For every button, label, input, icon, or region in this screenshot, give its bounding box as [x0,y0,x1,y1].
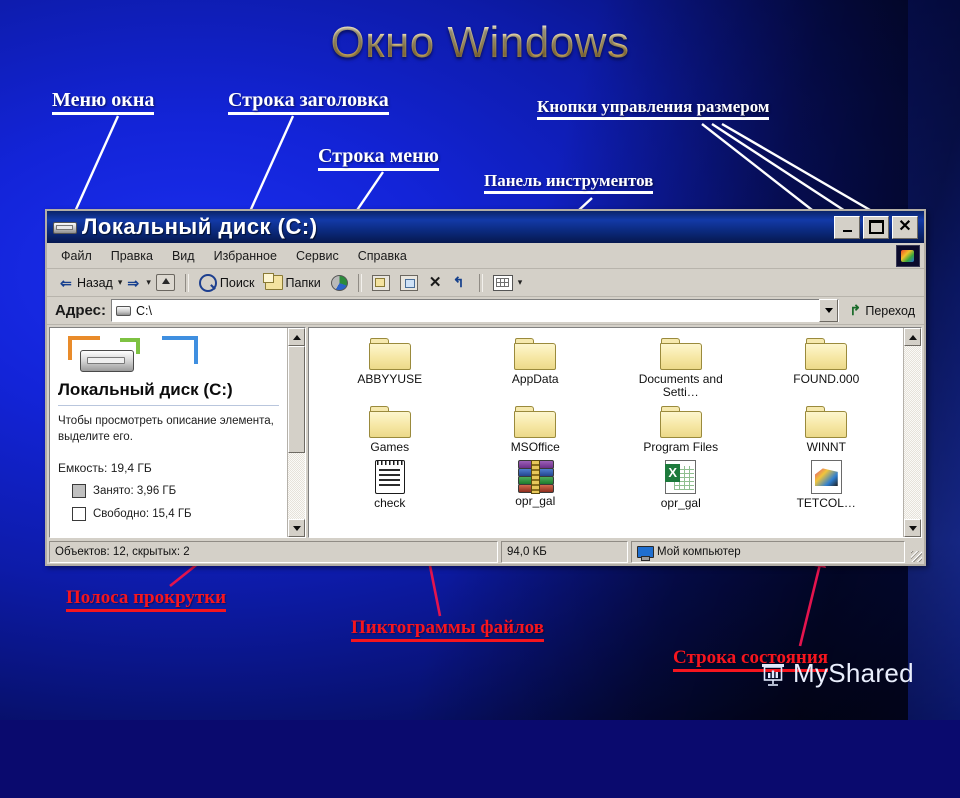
history-icon [331,275,348,291]
files-grid: ABBYYUSE AppData Documents and Setti… FO… [317,334,899,511]
file-label: AppData [512,373,559,386]
search-icon [199,274,217,292]
address-value: C:\ [136,304,152,318]
free-swatch-icon [72,507,86,521]
callout-window-menu: Меню окна [52,90,154,115]
file-label: MSOffice [511,441,560,454]
details-pane-scrollbar[interactable] [287,328,305,537]
explorer-window: Локальный диск (C:) ✕ Файл Правка Вид Из… [45,209,926,566]
legend-row-free: Свободно: 15,4 ГБ [72,507,279,521]
folder-up-icon [156,274,175,291]
excel-spreadsheet-icon: X [665,460,696,494]
notepad-document-icon [375,460,405,494]
callout-toolbar: Панель инструментов [484,172,653,194]
undo-icon: ↰ [453,276,469,290]
details-pane-divider [58,405,279,406]
menu-item-file[interactable]: Файл [61,249,92,263]
file-label: FOUND.000 [793,373,859,386]
file-label: Documents and Setti… [625,373,737,400]
used-label: Занято: 3,96 ГБ [93,485,176,497]
folder-icon [660,406,702,438]
windows-logo-icon [896,245,920,267]
capacity-label: Емкость: 19,4 ГБ [58,461,279,475]
files-list[interactable]: ABBYYUSE AppData Documents and Setti… FO… [309,328,903,537]
minimize-button[interactable] [834,216,860,239]
scroll-down-button[interactable] [288,519,305,537]
file-item-msoffice[interactable]: MSOffice [463,402,609,454]
status-objects: Объектов: 12, скрытых: 2 [49,541,498,563]
scrollbar-track[interactable] [904,346,921,519]
image-file-icon [811,460,842,494]
file-item-program-files[interactable]: Program Files [608,402,754,454]
file-label: Program Files [643,441,718,454]
file-label: check [374,497,405,510]
maximize-icon [869,220,884,234]
copy-to-icon [400,275,418,291]
go-button[interactable]: ↱ Переход [844,304,920,318]
resize-grip[interactable] [908,541,922,563]
drive-icon [53,219,75,235]
menu-bar: Файл Правка Вид Избранное Сервис Справка [47,243,924,269]
go-arrow-icon: ↱ [849,304,862,317]
folder-icon [660,338,702,370]
scrollbar-thumb[interactable] [288,346,305,453]
free-label: Свободно: 15,4 ГБ [93,508,192,520]
address-label: Адрес: [55,302,106,319]
file-item-found-000[interactable]: FOUND.000 [754,334,900,400]
file-item-games[interactable]: Games [317,402,463,454]
scrollbar-track[interactable] [288,453,305,519]
up-button[interactable] [151,272,180,294]
chevron-down-icon [293,526,301,531]
window-controls: ✕ [834,216,924,239]
copy-to-button[interactable] [395,272,423,294]
maximize-button[interactable] [863,216,889,239]
file-item-opr-gal-spreadsheet[interactable]: X opr_gal [608,456,754,510]
local-disk-banner-icon [58,334,279,378]
details-pane-title: Локальный диск (C:) [58,380,279,399]
views-dropdown-icon[interactable]: ▾ [518,277,523,288]
scroll-up-button[interactable] [288,328,305,346]
drive-icon [116,306,131,316]
details-pane-content: Локальный диск (C:) Чтобы просмотреть оп… [50,328,287,537]
arrow-left-icon: ⇐ [60,276,74,290]
folder-icon [514,338,556,370]
my-computer-icon [637,546,652,559]
menu-item-view[interactable]: Вид [172,249,195,263]
window-body: Локальный диск (C:) Чтобы просмотреть оп… [47,325,924,540]
status-zone-label: Мой компьютер [657,546,741,558]
legend-row-used: Занято: 3,96 ГБ [72,484,279,498]
menu-item-favorites[interactable]: Избранное [214,249,277,263]
chevron-up-icon [293,335,301,340]
toolbar-separator-3 [479,274,483,292]
myshared-chart-icon [760,661,786,687]
winrar-archive-icon [518,460,552,492]
search-button-label: Поиск [220,276,255,290]
menu-item-edit[interactable]: Правка [111,249,153,263]
file-label: Games [370,441,409,454]
folder-icon [369,338,411,370]
folders-button[interactable]: Папки [260,272,326,294]
watermark-text: MyShared [793,658,914,689]
watermark: MyShared [760,658,914,689]
chevron-up-icon [909,335,917,340]
address-dropdown-button[interactable] [819,299,838,322]
status-size: 94,0 КБ [501,541,628,563]
search-button[interactable]: Поиск [194,272,260,294]
callout-file-icons: Пиктограммы файлов [351,618,544,642]
menu-item-tools[interactable]: Сервис [296,249,339,263]
folder-icon [805,338,847,370]
files-pane: ABBYYUSE AppData Documents and Setti… FO… [308,327,922,538]
close-icon: ✕ [898,219,911,235]
used-swatch-icon [72,484,86,498]
scroll-down-button[interactable] [904,519,921,537]
toolbar: ⇐ Назад ▾ ⇒ ▾ Поиск Папки ✕ [47,269,924,297]
address-bar: Адрес: C:\ ↱ Переход [47,297,924,325]
move-to-icon [372,275,390,291]
file-label: opr_gal [515,495,555,508]
window-title-text: Локальный диск (C:) [82,214,318,240]
close-button[interactable]: ✕ [892,216,918,239]
folder-icon [369,406,411,438]
chevron-down-icon [909,526,917,531]
go-button-label: Переход [865,304,915,318]
files-pane-scrollbar[interactable] [903,328,921,537]
file-label: opr_gal [661,497,701,510]
delete-button[interactable]: ✕ [423,272,448,294]
file-item-tetcol[interactable]: TETCOL… [754,456,900,510]
file-item-appdata[interactable]: AppData [463,334,609,400]
file-label: TETCOL… [797,497,856,510]
views-button[interactable] [488,272,518,294]
file-label: WINNT [807,441,846,454]
address-input[interactable]: C:\ [111,299,839,322]
file-item-documents-and-settings[interactable]: Documents and Setti… [608,334,754,400]
folder-icon [514,406,556,438]
move-to-button[interactable] [367,272,395,294]
file-item-opr-gal-archive[interactable]: opr_gal [463,456,609,510]
page-title: Окно Windows [0,18,960,68]
details-pane-hint: Чтобы просмотреть описание элемента, выд… [58,414,279,445]
views-icon [493,275,513,291]
file-item-abbyyuse[interactable]: ABBYYUSE [317,334,463,400]
toolbar-separator [185,274,189,292]
history-button[interactable] [326,272,353,294]
back-button[interactable]: ⇐ Назад [55,272,118,294]
scroll-up-button[interactable] [904,328,921,346]
arrow-right-icon: ⇒ [127,276,141,290]
status-zone: Мой компьютер [631,541,905,563]
delete-x-icon: ✕ [428,276,443,290]
file-label: ABBYYUSE [357,373,422,386]
callout-title-bar: Строка заголовка [228,90,389,115]
folders-icon [265,275,283,290]
details-pane: Локальный диск (C:) Чтобы просмотреть оп… [49,327,306,538]
callout-scrollbar: Полоса прокрутки [66,588,226,612]
forward-button[interactable]: ⇒ [122,272,146,294]
minimize-icon [843,230,852,232]
file-item-check[interactable]: check [317,456,463,510]
status-bar: Объектов: 12, скрытых: 2 94,0 КБ Мой ком… [47,540,924,564]
toolbar-separator-2 [358,274,362,292]
folder-icon [805,406,847,438]
menu-item-help[interactable]: Справка [358,249,407,263]
callout-size-buttons: Кнопки управления размером [537,98,769,120]
window-title-bar[interactable]: Локальный диск (C:) ✕ [47,211,924,243]
folders-button-label: Папки [286,276,321,290]
back-button-label: Назад [77,276,113,290]
file-item-winnt[interactable]: WINNT [754,402,900,454]
callout-menu-bar: Строка меню [318,146,439,171]
undo-button[interactable]: ↰ [448,272,474,294]
